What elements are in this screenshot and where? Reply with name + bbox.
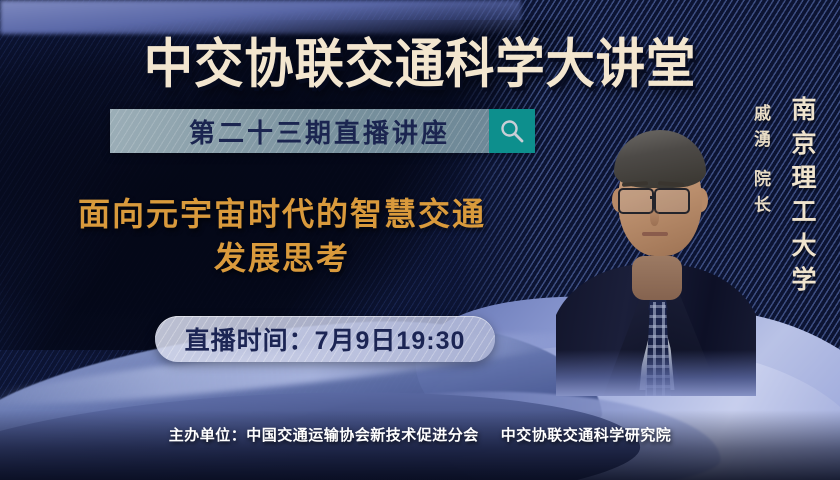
speaker-organization: 南京理工大学 [784, 96, 820, 300]
footer-prefix: 主办单位： [169, 427, 247, 444]
portrait-glasses-bridge [650, 196, 656, 199]
portrait-hair [614, 130, 706, 188]
portrait-nose [650, 208, 659, 226]
portrait-glasses-left [618, 188, 654, 214]
footer-organizers: 主办单位：中国交通运输协会新技术促进分会中交协联交通科学研究院 [0, 424, 840, 445]
poster-canvas: 中交协联交通科学大讲堂 第二十三期直播讲座 面向元宇宙时代的智慧交通 发展思考 … [0, 0, 840, 480]
footer-org-2: 中交协联交通科学研究院 [501, 427, 672, 444]
portrait-bottom-fade [556, 350, 756, 396]
episode-banner: 第二十三期直播讲座 [110, 109, 535, 153]
speaker-portrait [556, 96, 756, 396]
search-icon-box[interactable] [489, 109, 535, 153]
lecture-topic-line1: 面向元宇宙时代的智慧交通 [32, 192, 532, 236]
broadcast-time-pill: 直播时间：7月9日19:30 [155, 316, 495, 362]
episode-banner-body: 第二十三期直播讲座 [110, 109, 489, 153]
portrait-mouth [642, 232, 668, 236]
bottom-shade [0, 410, 840, 480]
episode-label: 第二十三期直播讲座 [149, 113, 450, 150]
footer-org-1: 中国交通运输协会新技术促进分会 [246, 427, 479, 444]
portrait-glasses-right [654, 188, 690, 214]
lecture-topic: 面向元宇宙时代的智慧交通 发展思考 [32, 192, 532, 280]
speaker-name-title: 戚湧 院长 [748, 104, 773, 222]
lecture-topic-line2: 发展思考 [32, 236, 532, 280]
broadcast-time-label: 直播时间：7月9日19:30 [185, 321, 466, 357]
portrait-neck [632, 256, 682, 300]
search-icon [499, 118, 525, 144]
main-title: 中交协联交通科学大讲堂 [29, 22, 810, 98]
